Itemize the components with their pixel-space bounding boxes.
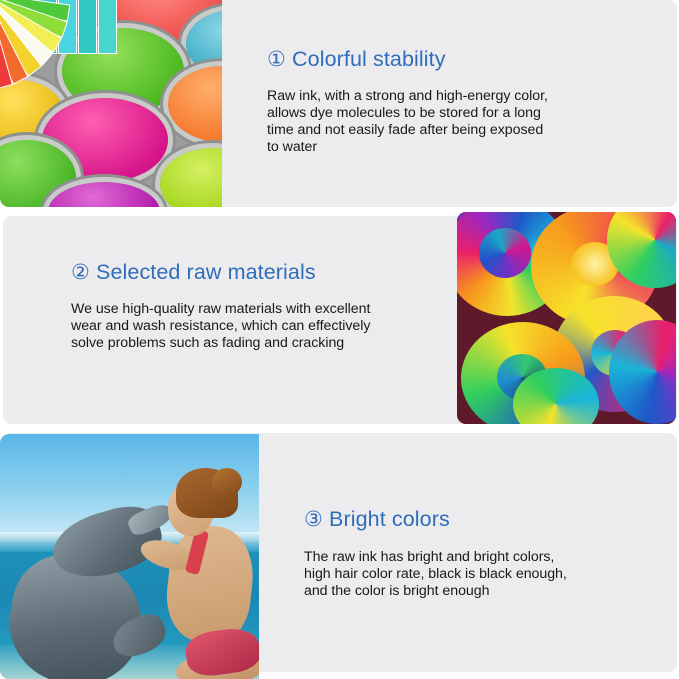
feature-heading-label-3: Bright colors <box>329 507 450 531</box>
feature-heading-label-1: Colorful stability <box>292 47 446 71</box>
feature-body-3: The raw ink has bright and bright colors… <box>304 549 567 600</box>
feature-number-2: ② <box>71 261 90 284</box>
feature-heading-label-2: Selected raw materials <box>96 260 316 284</box>
fan-deck-icon <box>0 0 130 112</box>
feature-heading-1: ① Colorful stability <box>267 47 548 72</box>
feature-body-2: We use high-quality raw materials with e… <box>71 301 370 352</box>
feature-text-selected-raw-materials: ② Selected raw materials We use high-qua… <box>71 260 370 352</box>
feature-card-colorful-stability: ① Colorful stability Raw ink, with a str… <box>0 0 677 207</box>
feature-number-3: ③ <box>304 508 323 531</box>
feature-text-colorful-stability: ① Colorful stability Raw ink, with a str… <box>267 47 548 156</box>
feature-highlights-page: ① Colorful stability Raw ink, with a str… <box>0 0 679 679</box>
feature-number-1: ① <box>267 48 286 71</box>
rainbow-roses-photo <box>457 212 676 424</box>
paint-cans-color-swatch-photo <box>0 0 222 207</box>
feature-text-bright-colors: ③ Bright colors The raw ink has bright a… <box>304 507 567 600</box>
feature-heading-2: ② Selected raw materials <box>71 260 370 285</box>
feature-body-1: Raw ink, with a strong and high-energy c… <box>267 88 548 156</box>
feature-heading-3: ③ Bright colors <box>304 507 567 532</box>
dolphin-swimmer-photo <box>0 434 259 679</box>
